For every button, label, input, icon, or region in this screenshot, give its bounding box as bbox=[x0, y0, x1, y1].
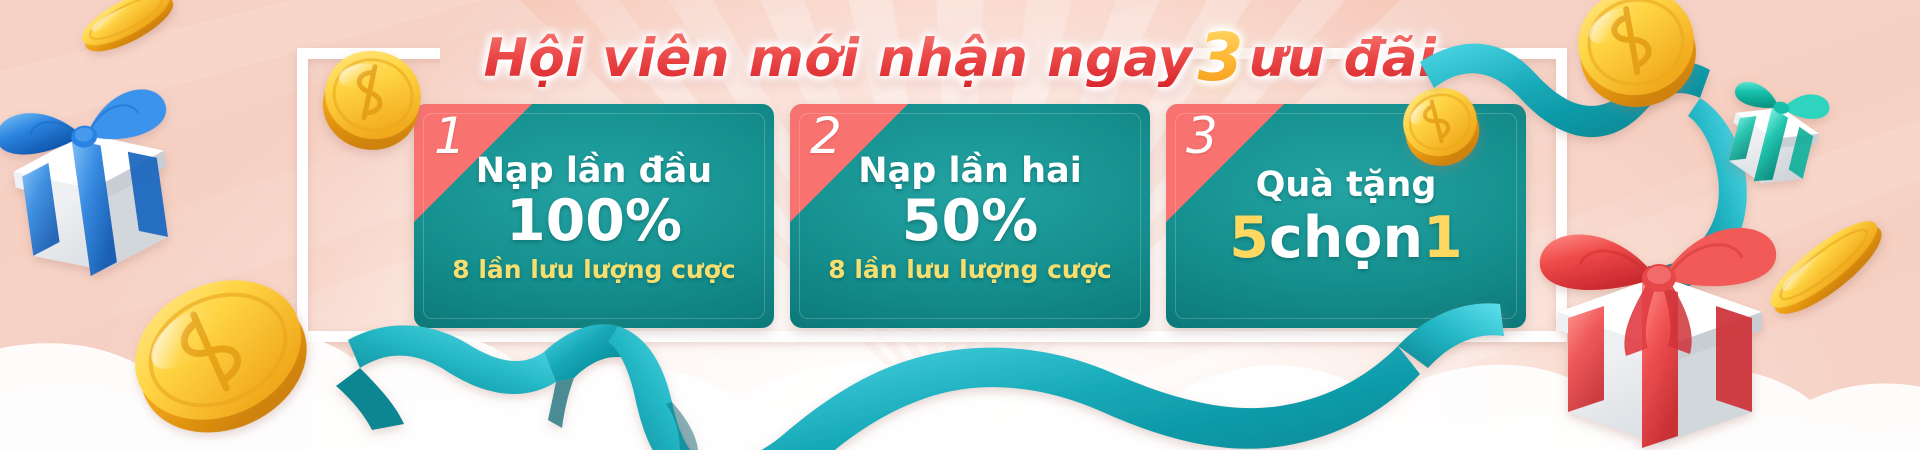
coin-top-right-icon bbox=[1570, 0, 1705, 116]
coin-edge-right-icon bbox=[1760, 209, 1893, 327]
coin-card3-icon bbox=[1396, 80, 1487, 174]
decoration-layer bbox=[0, 0, 1920, 450]
coin-top-left-icon bbox=[75, 0, 181, 62]
coin-frame-corner-icon bbox=[315, 42, 429, 159]
promo-banner: Hội viên mới nhận ngay3ưu đãi 1 Nạp lần … bbox=[0, 0, 1920, 450]
gift-box-blue-left-icon bbox=[0, 86, 188, 286]
